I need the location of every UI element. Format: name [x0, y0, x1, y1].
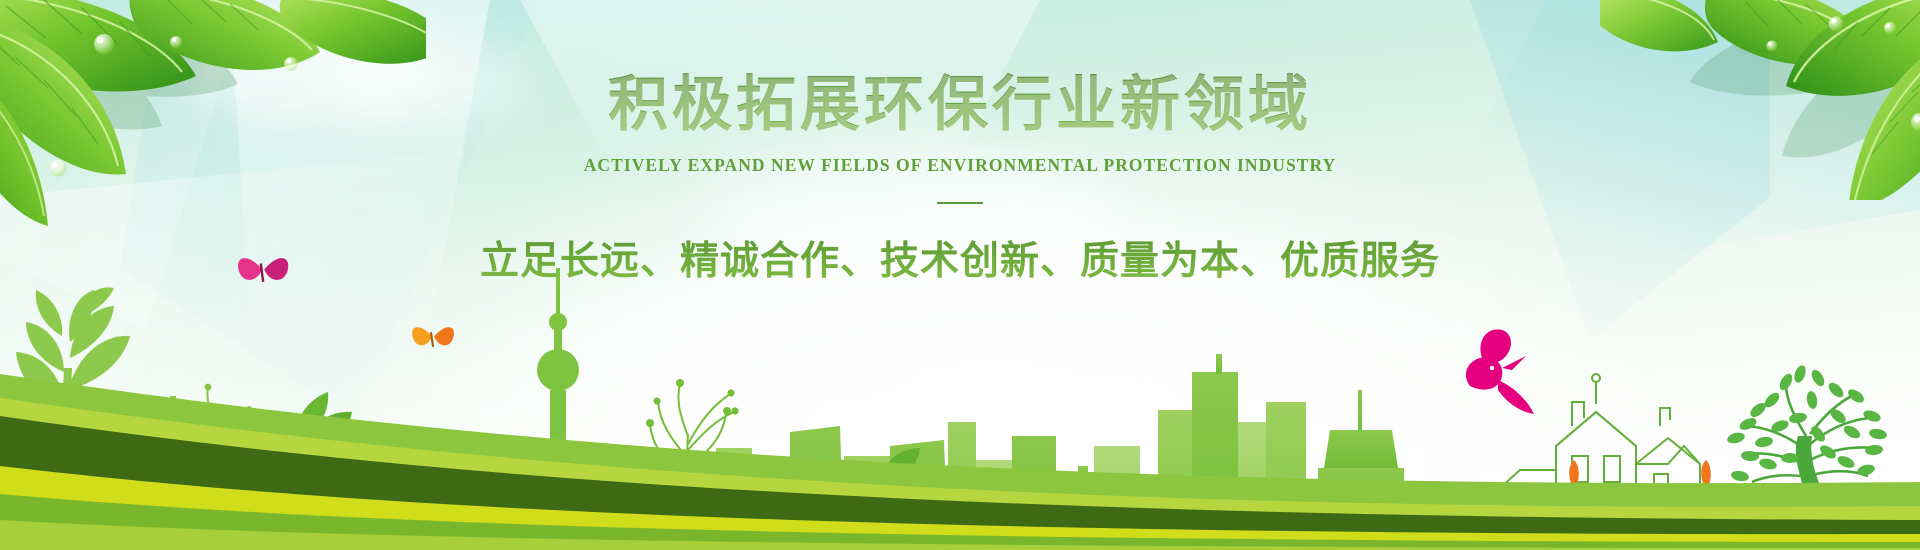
twig-plant-icon [180, 388, 248, 508]
city-skyline-icon [1742, 522, 1804, 550]
banner-text-block: 积极拓展环保行业新领域 ACTIVELY EXPAND NEW FIELDS O… [0, 0, 1920, 286]
sprout-icon [238, 392, 352, 530]
wave-band-green-light [0, 374, 1920, 550]
building-window [160, 426, 184, 482]
flower-icon [834, 467, 857, 490]
sprout-icon [834, 448, 920, 550]
wave-band-olive-dark [0, 416, 1920, 550]
sprout-icon [16, 287, 130, 512]
city-skyline-icon [672, 422, 1170, 550]
title-divider [937, 202, 983, 204]
page-title: 积极拓展环保行业新领域 [0, 56, 1920, 143]
cattail-icon [1569, 460, 1579, 488]
house-icon [1500, 374, 1700, 550]
city-skyline-icon [112, 396, 338, 530]
house-arch-icon [1632, 524, 1676, 550]
sunflower-icon [1629, 501, 1687, 550]
cattail-icon [1701, 460, 1711, 488]
scenery-layer [0, 250, 1920, 550]
bicycle-icon-detail [408, 449, 516, 506]
twig-leaf-dots [176, 384, 252, 453]
eco-banner: 积极拓展环保行业新领域 ACTIVELY EXPAND NEW FIELDS O… [0, 0, 1920, 550]
grass-icon [120, 438, 196, 498]
tree-icon [1726, 364, 1888, 550]
bicycle-icon [378, 448, 546, 536]
house-icon-solid [1488, 492, 1740, 550]
company-slogan: 立足长远、精诚合作、技术创新、质量为本、优质服务 [0, 230, 1920, 286]
city-skyline-icon [1158, 354, 1306, 550]
building-window [700, 476, 1079, 527]
ladybug-icon [999, 524, 1024, 541]
page-subtitle: ACTIVELY EXPAND NEW FIELDS OF ENVIRONMEN… [0, 155, 1920, 176]
twig-plant-icon [640, 384, 734, 540]
wave-band-lime [0, 398, 1920, 550]
wave-bands-layer [0, 320, 1920, 550]
flower-icon [166, 528, 210, 550]
twig-leaf-dots [635, 379, 739, 459]
grass-icon [1648, 484, 1742, 550]
wave-band-green-mid [0, 494, 1920, 550]
flower-icon [1601, 529, 1624, 550]
flower-icon [986, 528, 1006, 548]
wave-band-green-bottom [0, 520, 1920, 550]
butterfly-icon [412, 327, 454, 347]
house-window-row [1560, 504, 1636, 521]
grass-icon [1514, 484, 1610, 550]
oriental-pearl-tower-icon [532, 268, 586, 530]
hummingbird-icon [1466, 329, 1534, 414]
city-skyline-icon [1318, 390, 1404, 550]
wave-band-yellow [0, 466, 1920, 550]
